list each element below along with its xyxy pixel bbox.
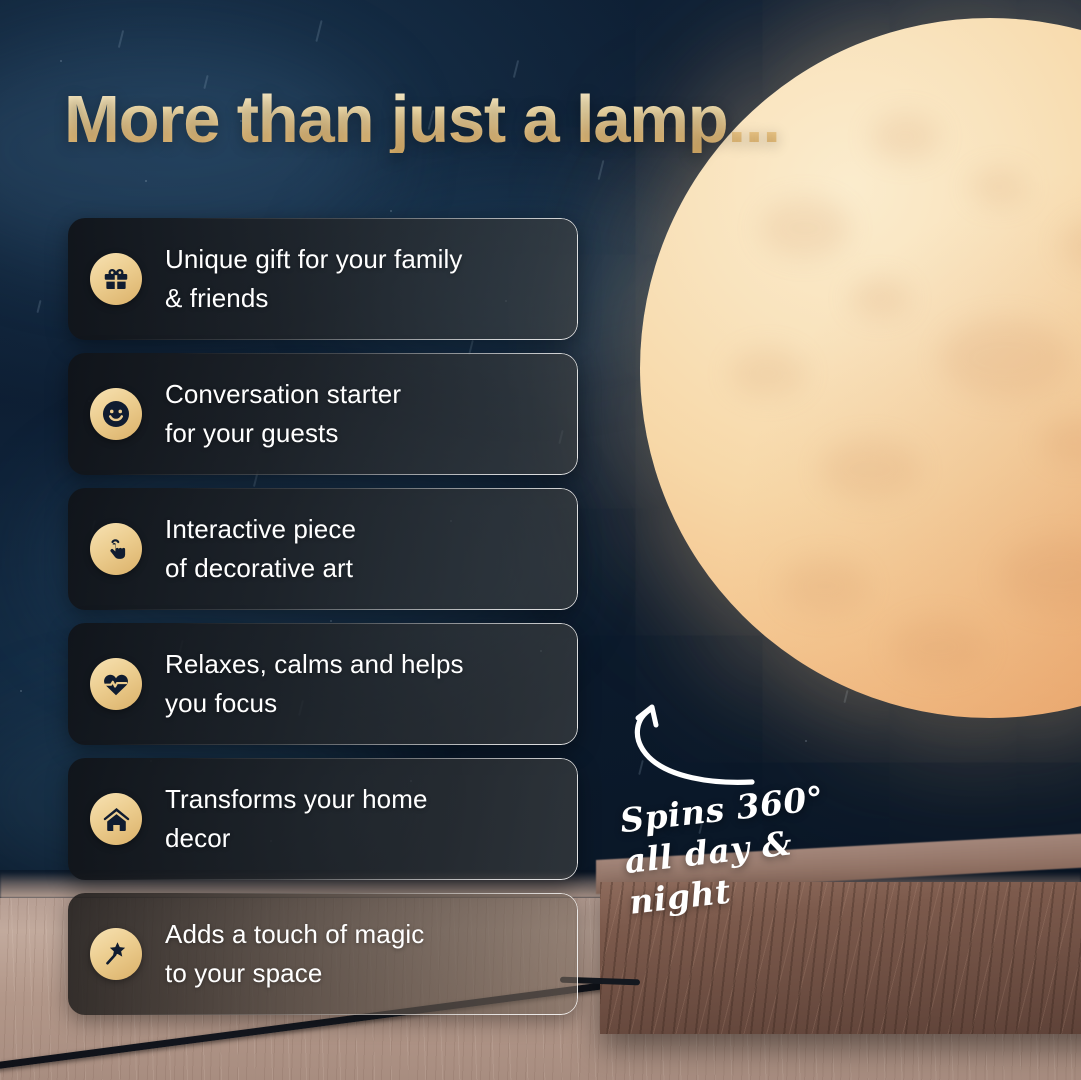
feature-card-label: Transforms your home decor (165, 780, 428, 858)
home-icon (90, 793, 142, 845)
feature-card-decor[interactable]: Transforms your home decor (68, 758, 578, 880)
feature-card-magic[interactable]: Adds a touch of magic to your space (68, 893, 578, 1015)
magic-wand-icon (90, 928, 142, 980)
feature-card-relax[interactable]: Relaxes, calms and helps you focus (68, 623, 578, 745)
feature-card-gift[interactable]: Unique gift for your family & friends (68, 218, 578, 340)
feature-card-label: Unique gift for your family & friends (165, 240, 463, 318)
smiley-icon (90, 388, 142, 440)
gift-icon (90, 253, 142, 305)
feature-card-label: Interactive piece of decorative art (165, 510, 356, 588)
page-title: More than just a lamp... (64, 86, 780, 153)
tap-hand-icon (90, 523, 142, 575)
feature-card-label: Conversation starter for your guests (165, 375, 401, 453)
heart-pulse-icon (90, 658, 142, 710)
feature-card-label: Adds a touch of magic to your space (165, 915, 424, 993)
promo-graphic: More than just a lamp... Unique gift for… (0, 0, 1081, 1080)
feature-card-interactive[interactable]: Interactive piece of decorative art (68, 488, 578, 610)
feature-card-list: Unique gift for your family & friends Co… (68, 218, 578, 1028)
curved-arrow-icon (618, 694, 778, 798)
feature-card-label: Relaxes, calms and helps you focus (165, 645, 464, 723)
feature-card-conversation[interactable]: Conversation starter for your guests (68, 353, 578, 475)
